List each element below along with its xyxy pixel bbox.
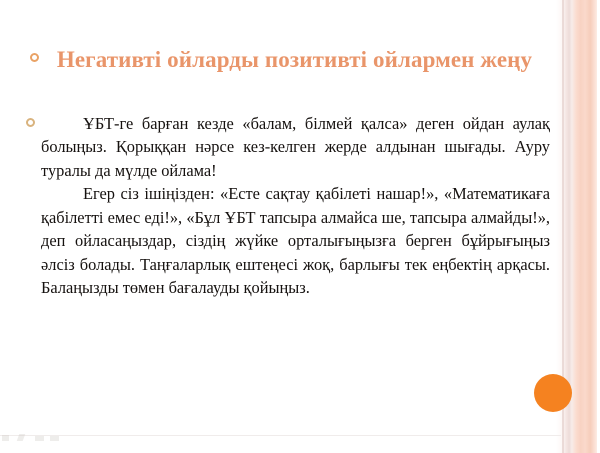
slide-body-text: ҰБТ-ге барған кезде «балам, білмей қалса… [41,112,550,300]
circle-outline-icon [30,53,39,62]
page-title: Негативті ойларды позитивті ойлармен жең… [43,44,546,77]
circle-outline-icon [26,118,35,127]
body-paragraph: ҰБТ-ге барған кезде «балам, білмей қалса… [41,112,550,182]
presentation-slide: Негативті ойларды позитивті ойлармен жең… [0,0,600,453]
slide-title-row: Негативті ойларды позитивті ойлармен жең… [30,44,546,77]
slide-content: Негативті ойларды позитивті ойлармен жең… [0,0,556,453]
slide-body-row: ҰБТ-ге барған кезде «балам, білмей қалса… [26,112,550,300]
body-paragraph: Егер сіз ішіңізден: «Есте сақтау қабілет… [41,182,550,299]
